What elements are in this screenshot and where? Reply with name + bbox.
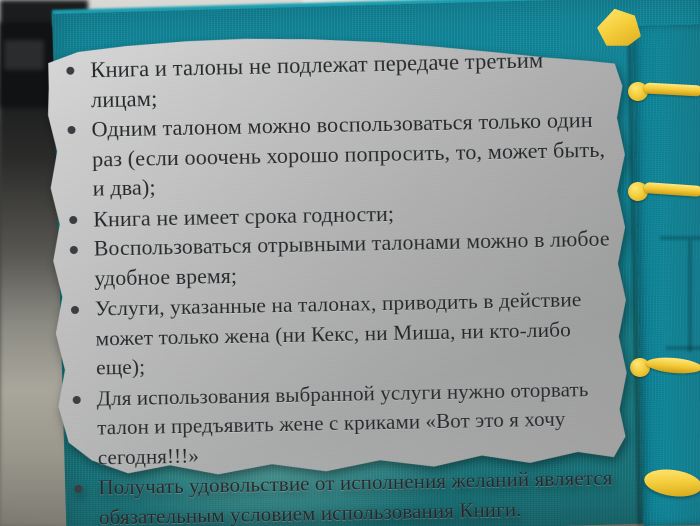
bullet-icon — [71, 306, 79, 314]
bullet-icon — [69, 215, 77, 223]
rules-list: Книга и талоны не подлежат передаче трет… — [60, 45, 617, 526]
rule-text: Книга и талоны не подлежат передаче трет… — [90, 47, 543, 111]
rule-text: Для использования выбранной услуги нужно… — [96, 377, 588, 469]
list-item: Для использования выбранной услуги нужно… — [66, 374, 616, 473]
bullet-icon — [66, 67, 74, 75]
bullet-icon — [67, 126, 75, 134]
list-item: Услуги, указанные на талонах, приводить … — [65, 285, 615, 384]
rule-text: Книга не имеет срока годности; — [93, 200, 394, 231]
list-item: Воспользоваться отрывными талонами можно… — [64, 225, 613, 295]
bullet-icon — [74, 485, 82, 493]
printed-note: Книга и талоны не подлежат передаче трет… — [30, 22, 639, 488]
list-item: Получать удовольствие от исполнения жела… — [68, 464, 617, 526]
rule-text: Получать удовольствие от исполнения жела… — [98, 466, 613, 526]
list-item: Одним талоном можно воспользоваться толь… — [61, 105, 611, 204]
photo-scene: Книга и талоны не подлежат передаче трет… — [0, 0, 700, 526]
bullet-icon — [73, 395, 81, 403]
book-spine-seam-1 — [660, 236, 700, 240]
rule-text: Услуги, указанные на талонах, приводить … — [95, 287, 582, 379]
bullet-icon — [70, 246, 78, 254]
book-spine-seam-3 — [688, 240, 692, 352]
book-spine-seam-2 — [666, 346, 700, 350]
rule-text: Воспользоваться отрывными талонами можно… — [94, 227, 610, 290]
rule-text: Одним талоном можно воспользоваться толь… — [91, 107, 605, 201]
list-item: Книга и талоны не подлежат передаче трет… — [60, 44, 609, 115]
